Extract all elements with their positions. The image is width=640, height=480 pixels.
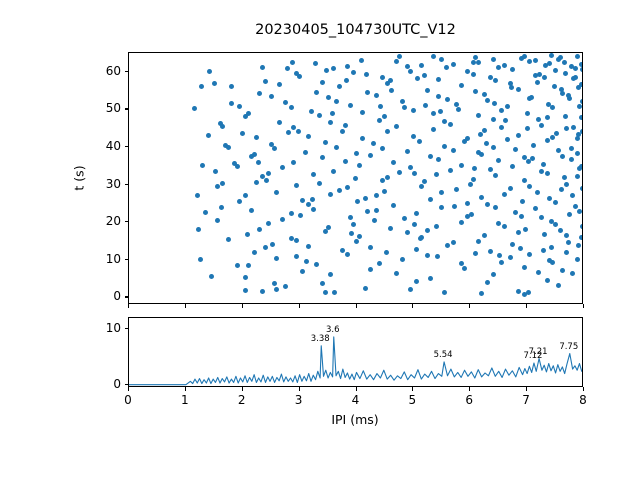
scatter-point (360, 110, 365, 115)
scatter-point (304, 259, 309, 264)
scatter-point (328, 192, 333, 197)
scatter-point (493, 205, 498, 210)
scatter-point (349, 231, 354, 236)
scatter-point (385, 129, 390, 134)
scatter-point (334, 99, 339, 104)
scatter-point (415, 76, 420, 81)
scatter-point (502, 192, 507, 197)
scatter-point (296, 129, 301, 134)
scatter-point (476, 113, 481, 118)
scatter-point (198, 257, 203, 262)
scatter-point (488, 75, 493, 80)
scatter-point (536, 117, 541, 122)
scatter-point (576, 243, 581, 248)
scatter-point (237, 199, 242, 204)
scatter-point (526, 159, 531, 164)
scatter-point (554, 131, 559, 136)
scatter-point (580, 129, 583, 134)
x-tick-mark (128, 387, 129, 391)
scatter-point (344, 78, 349, 83)
x-tick-mark (299, 304, 300, 308)
scatter-point (412, 222, 417, 227)
y-tick-mark (125, 146, 129, 147)
scatter-point (523, 227, 528, 232)
scatter-point (394, 59, 399, 64)
x-tick-mark (469, 387, 470, 391)
scatter-point (451, 148, 456, 153)
scatter-point (274, 190, 279, 195)
x-tick-mark (469, 304, 470, 308)
scatter-point (491, 117, 496, 122)
scatter-point (269, 94, 274, 99)
scatter-point (229, 84, 234, 89)
scatter-point (575, 174, 580, 179)
scatter-point (563, 71, 568, 76)
scatter-point (476, 60, 481, 65)
scatter-point (289, 105, 294, 110)
scatter-point (235, 164, 240, 169)
scatter-point (525, 111, 530, 116)
x-tick-mark (299, 387, 300, 391)
scatter-point (560, 154, 565, 159)
scatter-point (485, 280, 490, 285)
scatter-point (343, 123, 348, 128)
scatter-point (331, 66, 336, 71)
scatter-point (465, 136, 470, 141)
scatter-point (260, 65, 265, 70)
scatter-point (213, 169, 218, 174)
scatter-point (471, 72, 476, 77)
scatter-point (206, 133, 211, 138)
scatter-point (337, 84, 342, 89)
scatter-point (431, 54, 436, 59)
scatter-point (306, 244, 311, 249)
scatter-point (314, 262, 319, 267)
scatter-point (363, 286, 368, 291)
scatter-point (274, 256, 279, 261)
scatter-point (377, 261, 382, 266)
scatter-point (556, 283, 561, 288)
scatter-point (340, 248, 345, 253)
scatter-point (423, 103, 428, 108)
scatter-point (468, 182, 473, 187)
scatter-point (384, 250, 389, 255)
scatter-point (499, 260, 504, 265)
scatter-point (545, 138, 550, 143)
scatter-point (380, 178, 385, 183)
scatter-point (340, 129, 345, 134)
x-tick-mark (412, 304, 413, 308)
scatter-point (317, 181, 322, 186)
scatter-point (571, 125, 576, 130)
scatter-point (290, 60, 295, 65)
y-axis-label-scatter: t (s) (72, 165, 87, 190)
x-tick-mark (526, 387, 527, 391)
scatter-point (334, 145, 339, 150)
y-tick-label: 10 (80, 321, 121, 335)
scatter-point (579, 62, 583, 67)
scatter-point (359, 58, 364, 63)
scatter-point (220, 181, 225, 186)
scatter-point (382, 189, 387, 194)
scatter-point (509, 85, 514, 90)
scatter-point (459, 83, 464, 88)
x-tick-label: 6 (465, 393, 473, 407)
scatter-point (484, 141, 489, 146)
scatter-point (402, 216, 407, 221)
scatter-point (391, 203, 396, 208)
scatter-point (256, 160, 261, 165)
scatter-point (368, 153, 373, 158)
scatter-point (527, 252, 532, 257)
scatter-point (560, 91, 565, 96)
scatter-point (473, 55, 478, 60)
scatter-point (527, 184, 532, 189)
y-tick-mark (125, 108, 129, 109)
scatter-point (535, 190, 540, 195)
scatter-point (496, 221, 501, 226)
scatter-point (542, 75, 547, 80)
scatter-point (303, 150, 308, 155)
scatter-point (428, 154, 433, 159)
scatter-point (516, 133, 521, 138)
scatter-point (397, 54, 402, 59)
scatter-point (439, 57, 444, 62)
scatter-point (562, 175, 567, 180)
scatter-point (285, 66, 290, 71)
scatter-point (272, 281, 277, 286)
scatter-point (412, 171, 417, 176)
x-tick-mark (242, 387, 243, 391)
scatter-point (417, 139, 422, 144)
x-axis-label: IPI (ms) (331, 412, 378, 427)
scatter-point (351, 70, 356, 75)
scatter-point (452, 204, 457, 209)
scatter-point (516, 87, 521, 92)
scatter-point (438, 109, 443, 114)
scatter-point (245, 232, 250, 237)
scatter-point (573, 75, 578, 80)
scatter-point (497, 253, 502, 258)
scatter-point (207, 69, 212, 74)
scatter-point (209, 274, 214, 279)
scatter-point (439, 205, 444, 210)
scatter-point (297, 74, 302, 79)
scatter-point (539, 169, 544, 174)
scatter-point (215, 218, 220, 223)
scatter-point (345, 64, 350, 69)
x-tick-label: 3 (295, 393, 303, 407)
scatter-point (519, 214, 524, 219)
scatter-point (577, 104, 582, 109)
scatter-point (459, 163, 464, 168)
scatter-point (492, 101, 497, 106)
scatter-point (510, 67, 515, 72)
scatter-point (549, 219, 554, 224)
scatter-point (516, 289, 521, 294)
scatter-point (488, 249, 493, 254)
scatter-point (294, 238, 299, 243)
peak-label: 3.6 (326, 325, 340, 335)
scatter-point (522, 54, 527, 59)
scatter-point (372, 218, 377, 223)
scatter-point (254, 180, 259, 185)
scatter-point (320, 281, 325, 286)
scatter-point (577, 209, 582, 214)
y-tick-label: 10 (80, 252, 121, 266)
scatter-point (496, 158, 501, 163)
scatter-point (508, 186, 513, 191)
scatter-point (567, 212, 572, 217)
scatter-point (298, 213, 303, 218)
scatter-point (422, 179, 427, 184)
y-tick-label: 0 (80, 377, 121, 391)
scatter-point (394, 124, 399, 129)
scatter-point (323, 229, 328, 234)
scatter-point (436, 94, 441, 99)
x-tick-mark (356, 387, 357, 391)
scatter-point (428, 197, 433, 202)
scatter-point (439, 190, 444, 195)
scatter-point (226, 237, 231, 242)
scatter-point (558, 55, 563, 60)
scatter-point (485, 98, 490, 103)
scatter-point (485, 202, 490, 207)
scatter-point (442, 144, 447, 149)
scatter-point (536, 270, 541, 275)
scatter-point (425, 253, 430, 258)
scatter-point (411, 108, 416, 113)
scatter-point (434, 224, 439, 229)
scatter-point (482, 128, 487, 133)
scatter-point (374, 208, 379, 213)
scatter-point (529, 95, 534, 100)
scatter-point (546, 102, 551, 107)
scatter-point (277, 120, 282, 125)
y-tick-mark (125, 221, 129, 222)
scatter-point (473, 89, 478, 94)
scatter-point (385, 175, 390, 180)
scatter-point (328, 120, 333, 125)
x-tick-mark (185, 304, 186, 308)
scatter-point (289, 211, 294, 216)
scatter-point (505, 104, 510, 109)
scatter-point (469, 212, 474, 217)
y-tick-label: 20 (80, 214, 121, 228)
scatter-point (518, 246, 523, 251)
scatter-point (545, 171, 550, 176)
scatter-point (249, 208, 254, 213)
scatter-point (219, 205, 224, 210)
scatter-point (525, 126, 530, 131)
scatter-point (357, 163, 362, 168)
scatter-point (294, 254, 299, 259)
scatter-point (203, 210, 208, 215)
scatter-point (306, 134, 311, 139)
scatter-point (345, 252, 350, 257)
scatter-point (428, 276, 433, 281)
scatter-point (272, 146, 277, 151)
scatter-point (579, 115, 583, 120)
x-tick-label: 1 (181, 393, 189, 407)
histogram-trace (129, 318, 583, 387)
scatter-point (291, 160, 296, 165)
peak-label: 7.21 (529, 347, 548, 357)
y-tick-mark (125, 259, 129, 260)
scatter-point (436, 77, 441, 82)
scatter-point (454, 102, 459, 107)
scatter-point (371, 141, 376, 146)
scatter-point (310, 197, 315, 202)
scatter-point (266, 221, 271, 226)
x-tick-label: 5 (409, 393, 417, 407)
scatter-point (411, 134, 416, 139)
scatter-point (260, 289, 265, 294)
scatter-point (226, 145, 231, 150)
scatter-point (280, 217, 285, 222)
scatter-point (368, 245, 373, 250)
scatter-point (389, 88, 394, 93)
scatter-point (243, 193, 248, 198)
scatter-point (564, 250, 569, 255)
y-tick-label: 60 (80, 64, 121, 78)
scatter-point (496, 65, 501, 70)
scatter-point (502, 63, 507, 68)
scatter-point (274, 287, 279, 292)
scatter-point (541, 162, 546, 167)
scatter-point (425, 228, 430, 233)
scatter-point (533, 58, 538, 63)
scatter-point (462, 266, 467, 271)
scatter-point (448, 122, 453, 127)
scatter-point (354, 151, 359, 156)
scatter-point (491, 145, 496, 150)
y-tick-label: 0 (80, 289, 121, 303)
scatter-point (580, 67, 583, 72)
scatter-point (414, 279, 419, 284)
scatter-point (374, 193, 379, 198)
scatter-point (454, 187, 459, 192)
scatter-point (280, 165, 285, 170)
scatter-point (459, 220, 464, 225)
scatter-point (435, 254, 440, 259)
scatter-point (313, 61, 318, 66)
scatter-point (243, 114, 248, 119)
scatter-point (200, 163, 205, 168)
scatter-point (263, 79, 268, 84)
scatter-point (542, 232, 547, 237)
matplotlib-figure: 20230405_104730UTC_V12 0102030405060 t (… (0, 0, 640, 480)
scatter-point (408, 165, 413, 170)
scatter-point (300, 198, 305, 203)
histogram-polyline (129, 337, 583, 385)
scatter-point (580, 224, 583, 229)
scatter-point (503, 118, 508, 123)
scatter-point (513, 147, 518, 152)
scatter-point (545, 278, 550, 283)
scatter-point (580, 99, 583, 104)
scatter-point (414, 247, 419, 252)
scatter-point (579, 235, 583, 240)
scatter-point (391, 160, 396, 165)
scatter-point (559, 187, 564, 192)
scatter-point (354, 239, 359, 244)
scatter-point (355, 199, 360, 204)
scatter-point (351, 222, 356, 227)
y-tick-mark (125, 328, 129, 329)
x-tick-mark (583, 304, 584, 308)
scatter-point (311, 207, 316, 212)
scatter-point (320, 80, 325, 85)
scatter-point (377, 118, 382, 123)
scatter-point (499, 108, 504, 113)
scatter-point (317, 113, 322, 118)
scatter-point (493, 78, 498, 83)
scatter-point (431, 111, 436, 116)
scatter-point (357, 234, 362, 239)
x-tick-label: 2 (238, 393, 246, 407)
scatter-point (257, 91, 262, 96)
scatter-point (442, 119, 447, 124)
scatter-point (451, 62, 456, 67)
scatter-point (309, 109, 314, 114)
scatter-point (520, 199, 525, 204)
scatter-point (243, 288, 248, 293)
scatter-point (192, 106, 197, 111)
scatter-point (539, 215, 544, 220)
scatter-point (553, 222, 558, 227)
scatter-point (566, 93, 571, 98)
scatter-point (323, 140, 328, 145)
scatter-point (400, 257, 405, 262)
scatter-point (558, 228, 563, 233)
scatter-point (419, 63, 424, 68)
scatter-point (252, 250, 257, 255)
scatter-point (580, 186, 583, 191)
scatter-point (575, 151, 580, 156)
scatter-point (575, 54, 580, 59)
scatter-point (332, 290, 337, 295)
scatter-point (448, 168, 453, 173)
scatter-point (277, 82, 282, 87)
scatter-point (397, 170, 402, 175)
scatter-point (547, 196, 552, 201)
scatter-point (363, 196, 368, 201)
scatter-point (414, 211, 419, 216)
scatter-point (408, 287, 413, 292)
scatter-point (345, 185, 350, 190)
scatter-point (510, 164, 515, 169)
scatter-point (337, 188, 342, 193)
scatter-point (300, 269, 305, 274)
scatter-point (343, 159, 348, 164)
scatter-plot-area (128, 52, 583, 304)
x-tick-label: 4 (352, 393, 360, 407)
scatter-point (270, 242, 275, 247)
scatter-point (330, 111, 335, 116)
scatter-point (493, 173, 498, 178)
scatter-point (545, 115, 550, 120)
scatter-point (575, 257, 580, 262)
scatter-point (479, 195, 484, 200)
scatter-point (488, 167, 493, 172)
scatter-point (547, 61, 552, 66)
scatter-point (364, 72, 369, 77)
scatter-point (326, 95, 331, 100)
peak-label: 3.38 (311, 334, 330, 344)
scatter-point (311, 172, 316, 177)
scatter-point (482, 233, 487, 238)
